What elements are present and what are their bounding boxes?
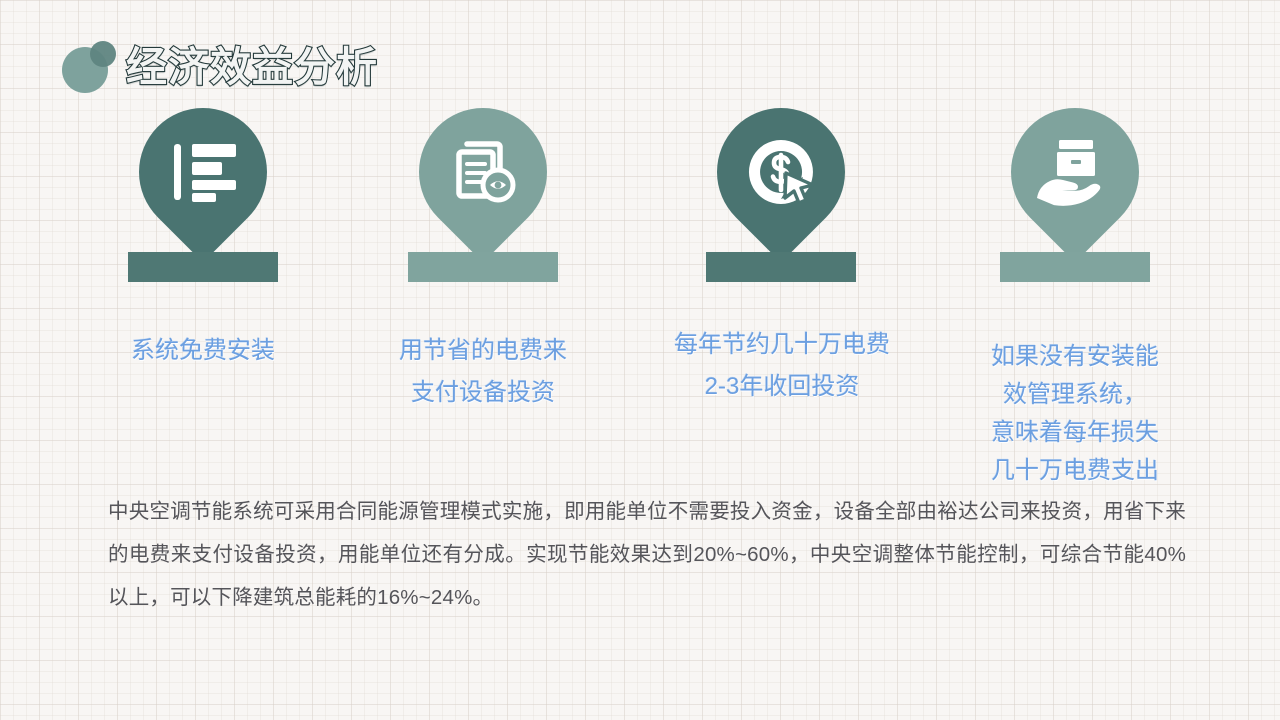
pin-caption-4: 如果没有安装能 效管理系统， 意味着每年损失 几十万电费支出 bbox=[950, 338, 1200, 490]
pin-base-bar-1 bbox=[128, 252, 278, 282]
pin-caption-1: 系统免费安装 bbox=[53, 330, 353, 372]
map-pin-1 bbox=[128, 108, 278, 258]
pin-caption-3: 每年节约几十万电费 2-3年收回投资 bbox=[626, 324, 938, 408]
page-title: 经济效益分析 bbox=[126, 40, 378, 94]
pin-card-4[interactable] bbox=[1000, 108, 1150, 258]
logo-circle-small bbox=[90, 41, 116, 67]
map-pin-2 bbox=[408, 108, 558, 258]
document-review-eye-icon bbox=[408, 108, 558, 236]
body-paragraph: 中央空调节能系统可采用合同能源管理模式实施，即用能单位不需要投入资金，设备全部由… bbox=[108, 490, 1186, 619]
map-pin-4 bbox=[1000, 108, 1150, 258]
dollar-circle-cursor-icon bbox=[706, 108, 856, 236]
pin-base-bar-2 bbox=[408, 252, 558, 282]
map-pin-3 bbox=[706, 108, 856, 258]
pin-card-3[interactable] bbox=[706, 108, 856, 258]
two-circles-logo-icon bbox=[62, 41, 114, 93]
document-list-icon bbox=[128, 108, 278, 236]
pin-base-bar-4 bbox=[1000, 252, 1150, 282]
hand-holding-box-icon bbox=[1000, 108, 1150, 236]
pin-caption-2: 用节省的电费来 支付设备投资 bbox=[333, 330, 633, 414]
slide-header: 经济效益分析 bbox=[0, 0, 1280, 110]
slide-canvas: 经济效益分析 bbox=[0, 0, 1280, 720]
pin-card-1[interactable] bbox=[128, 108, 278, 258]
pin-card-2[interactable] bbox=[408, 108, 558, 258]
pin-base-bar-3 bbox=[706, 252, 856, 282]
